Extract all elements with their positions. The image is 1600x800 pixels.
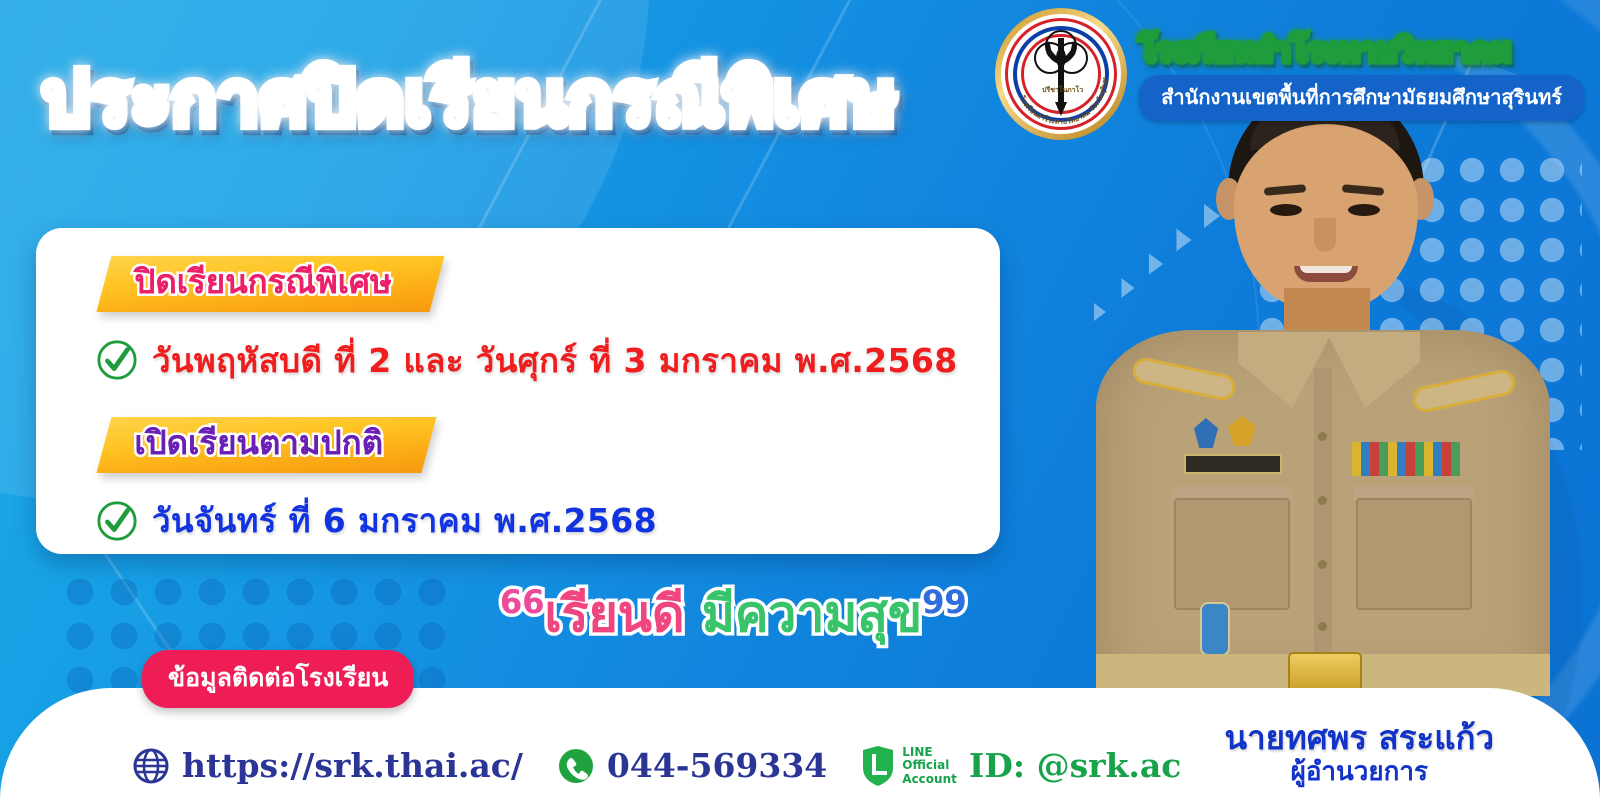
announcement-card: ปิดเรียนกรณีพิเศษ วันพฤหัสบดี ที่ 2 และ … bbox=[36, 228, 1000, 554]
portrait-mouth bbox=[1294, 266, 1358, 282]
line-word-3: Account bbox=[902, 773, 957, 786]
portrait-eye-right bbox=[1348, 204, 1380, 216]
announcement-banner: ประกาศปิดเรียนกรณีพิเศษ โรงเรียนสำโรงทาบ… bbox=[0, 0, 1600, 800]
portrait-shirt-placket bbox=[1314, 368, 1332, 696]
phone-icon bbox=[557, 747, 595, 785]
open-detail-row: วันจันทร์ ที่ 6 มกราคม พ.ศ.2568 bbox=[96, 494, 1000, 547]
closed-detail-row: วันพฤหัสบดี ที่ 2 และ วันศุกร์ ที่ 3 มกร… bbox=[96, 334, 1000, 387]
svg-text:ภาโว: ภาโว bbox=[1067, 85, 1083, 94]
line-official-account-badge: LINE Official Account bbox=[861, 746, 957, 786]
portrait-insignia-badge-3 bbox=[1200, 602, 1230, 656]
check-circle-icon bbox=[96, 339, 138, 381]
phone-number: 044-569334 bbox=[607, 746, 827, 785]
portrait-eye-left bbox=[1270, 204, 1302, 216]
slogan-space bbox=[684, 589, 701, 639]
line-word-2: Official bbox=[902, 759, 957, 772]
slogan-close-quote: 99 bbox=[922, 586, 967, 618]
phone-item[interactable]: 044-569334 bbox=[557, 746, 827, 785]
globe-icon bbox=[132, 747, 170, 785]
portrait-ribbon-bar bbox=[1352, 442, 1460, 476]
brand-text: โรงเรียนสำโรงทาบวิทยาคม สำนักงานเขตพื้นท… bbox=[1139, 8, 1584, 121]
closed-section-tag: ปิดเรียนกรณีพิเศษ bbox=[97, 256, 445, 312]
slogan: 66เรียนดี มีความสุข99 bbox=[500, 586, 967, 639]
svg-text:โรงเรียนสำโรงทาบวิทยาคม จังหวั: โรงเรียนสำโรงทาบวิทยาคม จังหวัดสุรินทร์ bbox=[995, 8, 1109, 126]
director-caption: นายทศพร สระแก้ว ผู้อำนวยการ bbox=[1225, 721, 1494, 788]
school-name: โรงเรียนสำโรงทาบวิทยาคม bbox=[1139, 36, 1584, 67]
website-item[interactable]: https://srk.thai.ac/ bbox=[132, 746, 523, 785]
director-photo bbox=[1088, 82, 1558, 696]
line-badge-words: LINE Official Account bbox=[902, 746, 957, 786]
portrait-button-3 bbox=[1318, 560, 1327, 569]
contact-row: https://srk.thai.ac/ 044-569334 LINE Off… bbox=[132, 746, 1181, 786]
area-office-label: สำนักงานเขตพื้นที่การศึกษามัธยมศึกษาสุริ… bbox=[1139, 75, 1584, 121]
portrait-button-2 bbox=[1318, 496, 1327, 505]
line-shield-icon bbox=[861, 746, 895, 786]
portrait-pocket-right bbox=[1356, 498, 1472, 610]
line-item[interactable]: LINE Official Account ID: @srk.ac bbox=[861, 746, 1181, 786]
closed-detail-text: วันพฤหัสบดี ที่ 2 และ วันศุกร์ ที่ 3 มกร… bbox=[152, 334, 958, 387]
director-role: ผู้อำนวยการ bbox=[1225, 756, 1494, 789]
director-name: นายทศพร สระแก้ว bbox=[1225, 721, 1494, 756]
portrait-button-1 bbox=[1318, 432, 1327, 441]
portrait-face bbox=[1234, 124, 1418, 310]
open-section-tag-label: เปิดเรียนตามปกติ bbox=[134, 426, 383, 461]
check-circle-icon bbox=[96, 500, 138, 542]
slogan-part-1: เรียนดี bbox=[545, 589, 685, 639]
line-id: ID: @srk.ac bbox=[969, 746, 1182, 785]
open-detail-text: วันจันทร์ ที่ 6 มกราคม พ.ศ.2568 bbox=[152, 494, 657, 547]
slogan-open-quote: 66 bbox=[500, 586, 545, 618]
slogan-part-2: มีความสุข bbox=[702, 589, 922, 639]
school-crest-icon: โรงเรียนสำโรงทาบวิทยาคม จังหวัดสุรินทร์ … bbox=[995, 8, 1127, 140]
line-word-1: LINE bbox=[902, 746, 957, 759]
website-url: https://srk.thai.ac/ bbox=[182, 746, 523, 785]
contact-badge: ข้อมูลติดต่อโรงเรียน bbox=[142, 650, 414, 708]
portrait-nose bbox=[1314, 218, 1336, 252]
page-title: ประกาศปิดเรียนกรณีพิเศษ bbox=[42, 62, 898, 136]
brand-block: โรงเรียนสำโรงทาบวิทยาคม จังหวัดสุรินทร์ … bbox=[995, 8, 1584, 140]
portrait-nameplate bbox=[1184, 454, 1282, 474]
closed-section-tag-label: ปิดเรียนกรณีพิเศษ bbox=[134, 265, 391, 300]
open-section-tag: เปิดเรียนตามปกติ bbox=[97, 417, 437, 473]
svg-text:ปรีชาโน: ปรีชาโน bbox=[1042, 85, 1068, 94]
portrait-button-4 bbox=[1318, 622, 1327, 631]
portrait-pocket-left bbox=[1174, 498, 1290, 610]
